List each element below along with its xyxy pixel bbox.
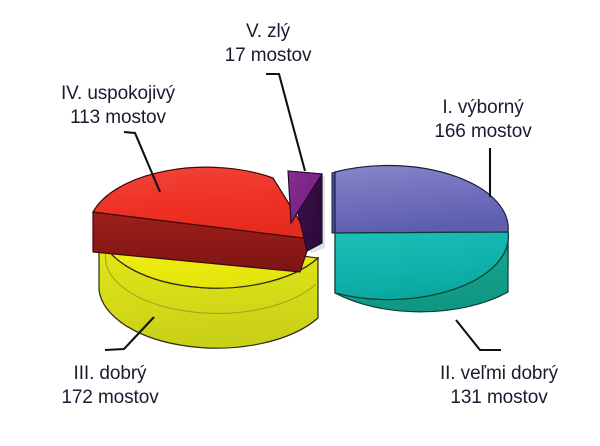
slice-label-iii-dobry: III. dobrý 172 mostov — [20, 362, 200, 411]
leader-line-ii — [456, 320, 501, 350]
slice-label-i-value: 166 mostov — [398, 120, 568, 144]
pie-chart-figure: V. zlý 17 mostov IV. uspokojivý 113 most… — [0, 0, 600, 446]
slice-label-ii-value: 131 mostov — [404, 386, 594, 410]
slice-label-v-name: V. zlý — [188, 20, 348, 44]
slice-label-iii-value: 172 mostov — [20, 386, 200, 410]
slice-label-iii-name: III. dobrý — [20, 362, 200, 386]
slice-label-iv-uspokojivy: IV. uspokojivý 113 mostov — [18, 82, 218, 131]
pie-slice-ii-velmi-dobry[interactable] — [335, 232, 508, 312]
slice-label-i-vyborny: I. výborný 166 mostov — [398, 96, 568, 145]
slice-label-v-value: 17 mostov — [188, 44, 348, 68]
slice-label-v-zly: V. zlý 17 mostov — [188, 20, 348, 69]
slice-label-ii-velmi-dobry: II. veľmi dobrý 131 mostov — [404, 362, 594, 411]
slice-label-iv-name: IV. uspokojivý — [18, 82, 218, 106]
slice-label-i-name: I. výborný — [398, 96, 568, 120]
slice-label-ii-name: II. veľmi dobrý — [404, 362, 594, 386]
leader-line-v — [266, 74, 305, 171]
slice-label-iv-value: 113 mostov — [18, 106, 218, 130]
